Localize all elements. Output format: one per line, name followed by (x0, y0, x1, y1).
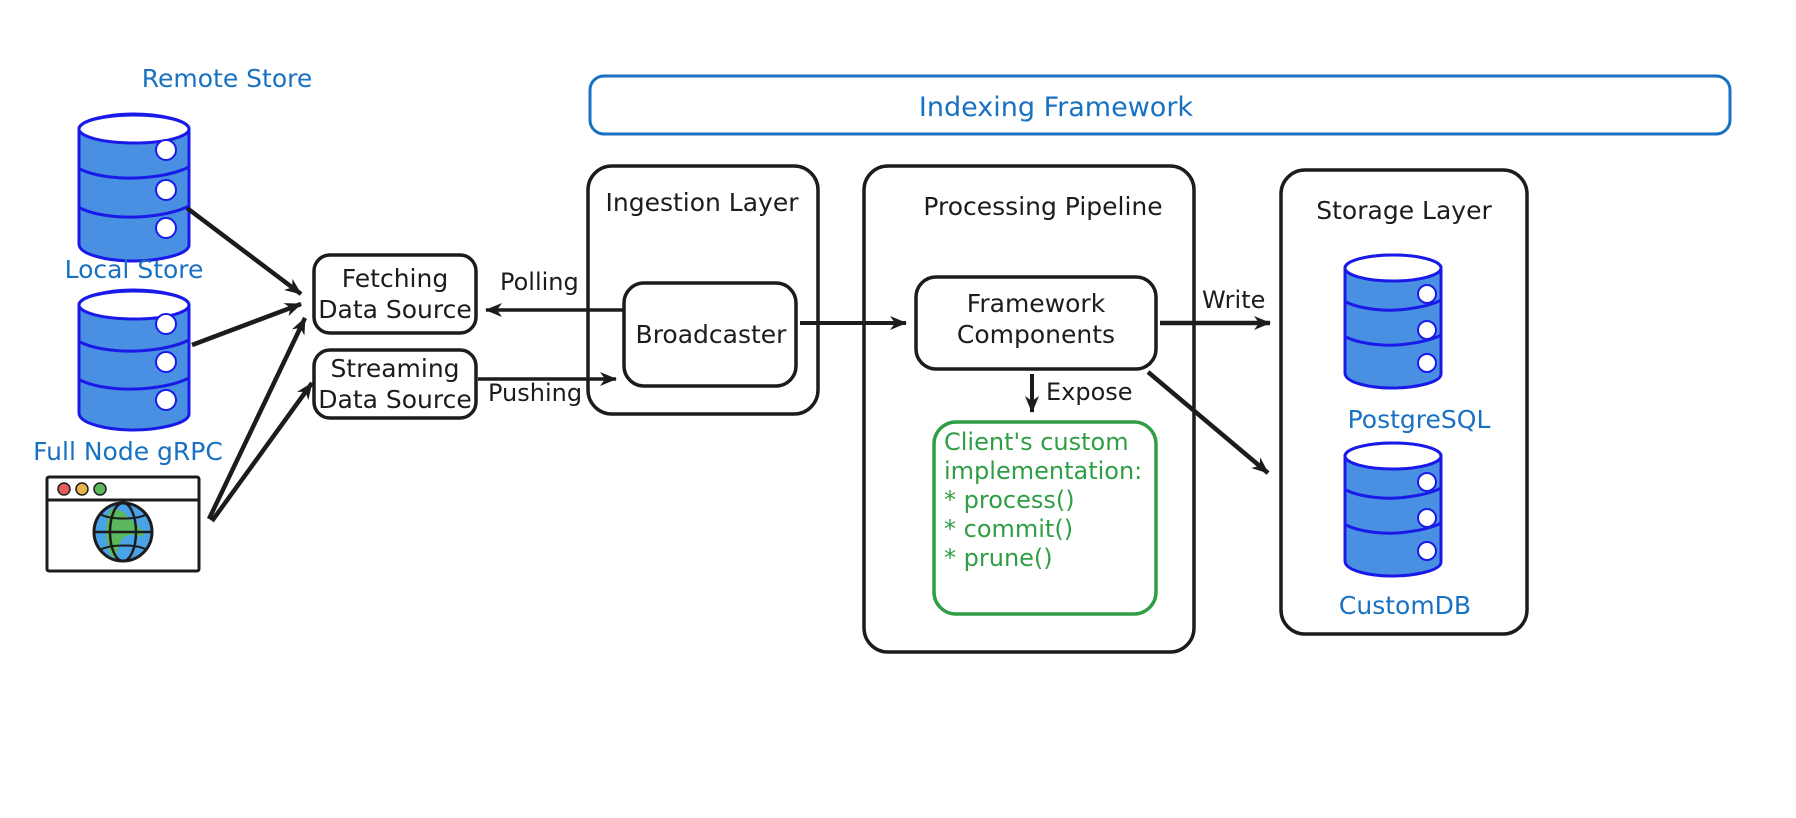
streaming-data-source-box[interactable] (314, 350, 476, 418)
fetching-data-source-box[interactable] (314, 255, 476, 333)
edge-local-to-fetching (192, 304, 301, 345)
edge-remote-to-fetching (187, 208, 301, 294)
database-cylinder-icon-customdb (1345, 443, 1441, 576)
database-cylinder-icon-remote-store (79, 114, 189, 261)
custom-implementation-box (934, 422, 1156, 614)
broadcaster-box[interactable] (624, 283, 796, 386)
diagram-canvas (0, 0, 1796, 818)
database-cylinder-icon-local-store (79, 290, 189, 430)
indexing-framework-banner (590, 76, 1730, 134)
edge-grpc-to-fetching (209, 318, 305, 519)
browser-window-globe-icon (47, 477, 199, 571)
framework-components-box[interactable] (916, 277, 1156, 369)
database-cylinder-icon-postgresql (1345, 255, 1441, 388)
